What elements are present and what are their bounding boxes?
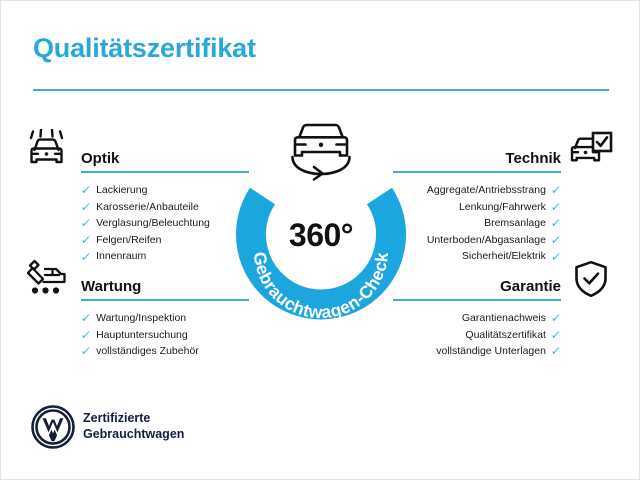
section-items-garantie: Garantienachweis✓ Qualitätszertifikat✓ v…	[393, 310, 561, 360]
check-icon: ✓	[80, 345, 92, 357]
list-item: ✓Felgen/Reifen	[81, 232, 249, 249]
brand-tagline: Zertifizierte Gebrauchtwagen	[83, 410, 184, 442]
section-divider-technik	[393, 171, 561, 173]
car-checkbox-icon	[567, 129, 615, 174]
list-item-label: Karosserie/Anbauteile	[96, 199, 199, 216]
car-rotate-icon	[278, 119, 364, 185]
section-items-technik: Aggregate/Antriebsstrang✓ Lenkung/Fahrwe…	[393, 182, 561, 265]
check-icon: ✓	[550, 201, 562, 213]
check-icon: ✓	[550, 184, 562, 196]
list-item: vollständige Unterlagen✓	[393, 343, 561, 360]
section-title-garantie: Garantie	[500, 278, 561, 295]
section-optik: Optik ✓Lackierung ✓Karosserie/Anbauteile…	[81, 141, 249, 265]
section-wartung: Wartung ✓Wartung/Inspektion ✓Hauptunters…	[81, 269, 249, 360]
section-divider-wartung	[81, 299, 249, 301]
list-item: ✓Verglasung/Beleuchtung	[81, 215, 249, 232]
car-shine-icon	[25, 129, 69, 174]
list-item-label: Sicherheit/Elektrik	[462, 248, 546, 265]
section-title-wartung: Wartung	[81, 278, 141, 295]
list-item-label: Wartung/Inspektion	[96, 310, 186, 327]
check-icon: ✓	[550, 234, 562, 246]
vw-logo-icon	[31, 405, 75, 449]
check-icon: ✓	[80, 234, 92, 246]
check-icon: ✓	[80, 184, 92, 196]
shield-check-icon	[571, 259, 611, 304]
section-technik: Technik Aggregate/Antriebsstrang✓ Lenkun…	[393, 141, 561, 265]
brand-tagline-line1: Zertifizierte	[83, 410, 184, 426]
list-item: Lenkung/Fahrwerk✓	[393, 199, 561, 216]
list-item-label: Qualitätszertifikat	[465, 327, 546, 344]
check-icon: ✓	[550, 345, 562, 357]
page-title: Qualitätszertifikat	[33, 33, 256, 64]
list-item: ✓Wartung/Inspektion	[81, 310, 249, 327]
list-item-label: Aggregate/Antriebsstrang	[427, 182, 546, 199]
tool-car-icon	[25, 257, 69, 302]
brand-tagline-line2: Gebrauchtwagen	[83, 426, 184, 442]
check-icon: ✓	[80, 201, 92, 213]
quality-certificate-page: Qualitätszertifikat Optik ✓Lackier	[0, 0, 640, 480]
list-item-label: vollständiges Zubehör	[96, 343, 199, 360]
list-item: ✓Lackierung	[81, 182, 249, 199]
list-item-label: Felgen/Reifen	[96, 232, 161, 249]
check-icon: ✓	[550, 329, 562, 341]
section-title-technik: Technik	[505, 150, 561, 167]
check-icon: ✓	[80, 217, 92, 229]
list-item-label: Lenkung/Fahrwerk	[459, 199, 546, 216]
list-item: ✓Hauptuntersuchung	[81, 327, 249, 344]
list-item-label: Lackierung	[96, 182, 147, 199]
badge-360-gebrauchtwagen-check: Gebrauchtwagen-Check 360°	[229, 159, 413, 343]
list-item-label: Garantienachweis	[462, 310, 546, 327]
list-item-label: Bremsanlage	[484, 215, 546, 232]
list-item: Qualitätszertifikat✓	[393, 327, 561, 344]
section-items-wartung: ✓Wartung/Inspektion ✓Hauptuntersuchung ✓…	[81, 310, 249, 360]
list-item: Garantienachweis✓	[393, 310, 561, 327]
list-item: Aggregate/Antriebsstrang✓	[393, 182, 561, 199]
list-item-label: Unterboden/Abgasanlage	[427, 232, 546, 249]
list-item: Bremsanlage✓	[393, 215, 561, 232]
check-icon: ✓	[550, 217, 562, 229]
check-icon: ✓	[550, 251, 562, 263]
list-item-label: vollständige Unterlagen	[436, 343, 546, 360]
list-item-label: Innenraum	[96, 248, 146, 265]
list-item-label: Hauptuntersuchung	[96, 327, 188, 344]
list-item: Unterboden/Abgasanlage✓	[393, 232, 561, 249]
check-icon: ✓	[80, 312, 92, 324]
section-divider-garantie	[393, 299, 561, 301]
list-item-label: Verglasung/Beleuchtung	[96, 215, 210, 232]
check-icon: ✓	[80, 329, 92, 341]
section-title-optik: Optik	[81, 150, 119, 167]
section-divider-optik	[81, 171, 249, 173]
list-item: ✓vollständiges Zubehör	[81, 343, 249, 360]
check-icon: ✓	[80, 251, 92, 263]
list-item: ✓Innenraum	[81, 248, 249, 265]
list-item: Sicherheit/Elektrik✓	[393, 248, 561, 265]
check-icon: ✓	[550, 312, 562, 324]
title-divider	[33, 89, 609, 91]
section-garantie: Garantie Garantienachweis✓ Qualitätszert…	[393, 269, 561, 360]
badge-center-label: 360°	[229, 217, 413, 254]
list-item: ✓Karosserie/Anbauteile	[81, 199, 249, 216]
section-items-optik: ✓Lackierung ✓Karosserie/Anbauteile ✓Verg…	[81, 182, 249, 265]
